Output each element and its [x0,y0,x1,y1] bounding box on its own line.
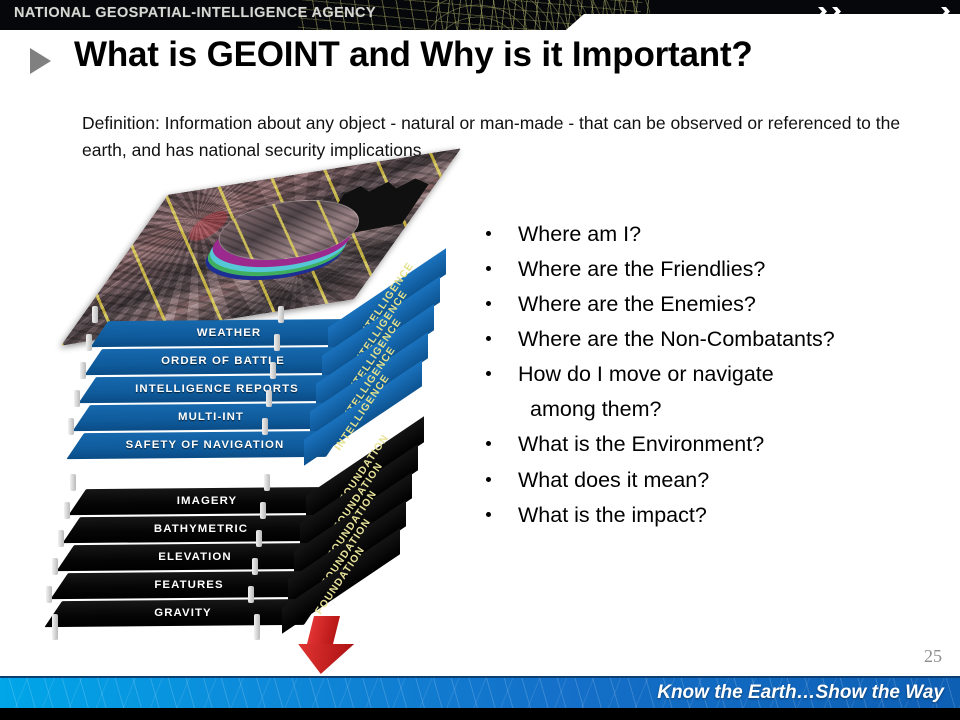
list-item: What does it mean? [484,468,954,492]
list-item: What is the Environment? [484,432,954,456]
support-pin [58,530,64,547]
support-pin [68,418,74,435]
triangle-right-icon [30,48,51,74]
list-item: Where am I? [484,222,954,246]
support-pin [92,306,98,323]
support-leg [254,614,260,640]
list-item-label: Where are the Non-Combatants? [518,327,835,351]
layer-label: ELEVATION [66,544,324,570]
bullet-dot-icon [486,371,491,376]
support-pin [262,418,268,435]
bullet-dot-icon [486,441,491,446]
list-item: Where are the Non-Combatants? [484,327,954,351]
bullet-dot-icon [486,301,491,306]
support-leg [52,614,58,640]
list-item: What is the impact? [484,503,954,527]
support-pin [266,390,272,407]
page-title: What is GEOINT and Why is it Important? [74,35,753,75]
layer-label: MULTI-INT [82,404,340,430]
layer-label: SAFETY OF NAVIGATION [76,432,334,458]
layer-label: WEATHER [100,320,358,346]
layer-label: ORDER OF BATTLE [94,348,352,374]
bullet-dot-icon [486,266,491,271]
support-pin [256,530,262,547]
support-pin [64,502,70,519]
list-item-label: What does it mean? [518,468,709,492]
geoint-layer-stack-diagram: WEATHER INTELLIGENCE ORDER OF BATTLE INT… [100,172,444,642]
support-pin [70,474,76,491]
footer-black-strip [0,708,960,720]
slide: NATIONAL GEOSPATIAL-INTELLIGENCE AGENCY … [0,0,960,720]
support-pin [278,306,284,323]
list-item-label: What is the Environment? [518,432,764,456]
list-item-label: Where am I? [518,222,641,246]
support-pin [86,334,92,351]
footer-tagline: Know the Earth…Show the Way [657,682,944,704]
list-item: Where are the Enemies? [484,292,954,316]
header-diagonal-wedge [548,14,960,30]
list-item: Where are the Friendlies? [484,257,954,281]
list-item-label: What is the impact? [518,503,707,527]
support-pin [74,390,80,407]
bullet-dot-icon [486,512,491,517]
bullet-dot-icon [486,231,491,236]
page-number: 25 [924,646,942,667]
layer-label: IMAGERY [78,488,336,514]
support-pin [270,362,276,379]
support-pin [274,334,280,351]
support-pin [80,362,86,379]
footer-banner: Know the Earth…Show the Way [0,676,960,710]
definition-text: Definition: Information about any object… [82,110,902,164]
support-pin [260,502,266,519]
support-pin [264,474,270,491]
layer-label: BATHYMETRIC [72,516,330,542]
support-pin [52,558,58,575]
layer-label: GRAVITY [54,600,312,626]
header-banner: NATIONAL GEOSPATIAL-INTELLIGENCE AGENCY [0,0,960,30]
layer-label: INTELLIGENCE REPORTS [88,376,346,402]
support-pin [46,586,52,603]
bullet-dot-icon [486,336,491,341]
list-item-label: Where are the Friendlies? [518,257,765,281]
list-item-continuation: among them? [484,397,954,421]
layer-label: FEATURES [60,572,318,598]
question-list: Where am I? Where are the Friendlies? Wh… [484,222,954,538]
list-item-label: among them? [530,397,661,421]
support-pin [252,558,258,575]
list-item: How do I move or navigate [484,362,954,386]
agency-name: NATIONAL GEOSPATIAL-INTELLIGENCE AGENCY [14,5,376,21]
bullet-dot-icon [486,477,491,482]
title-row: What is GEOINT and Why is it Important? [0,36,960,84]
support-pin [248,586,254,603]
list-item-label: How do I move or navigate [518,362,774,386]
list-item-label: Where are the Enemies? [518,292,756,316]
arrow-head [294,644,354,674]
